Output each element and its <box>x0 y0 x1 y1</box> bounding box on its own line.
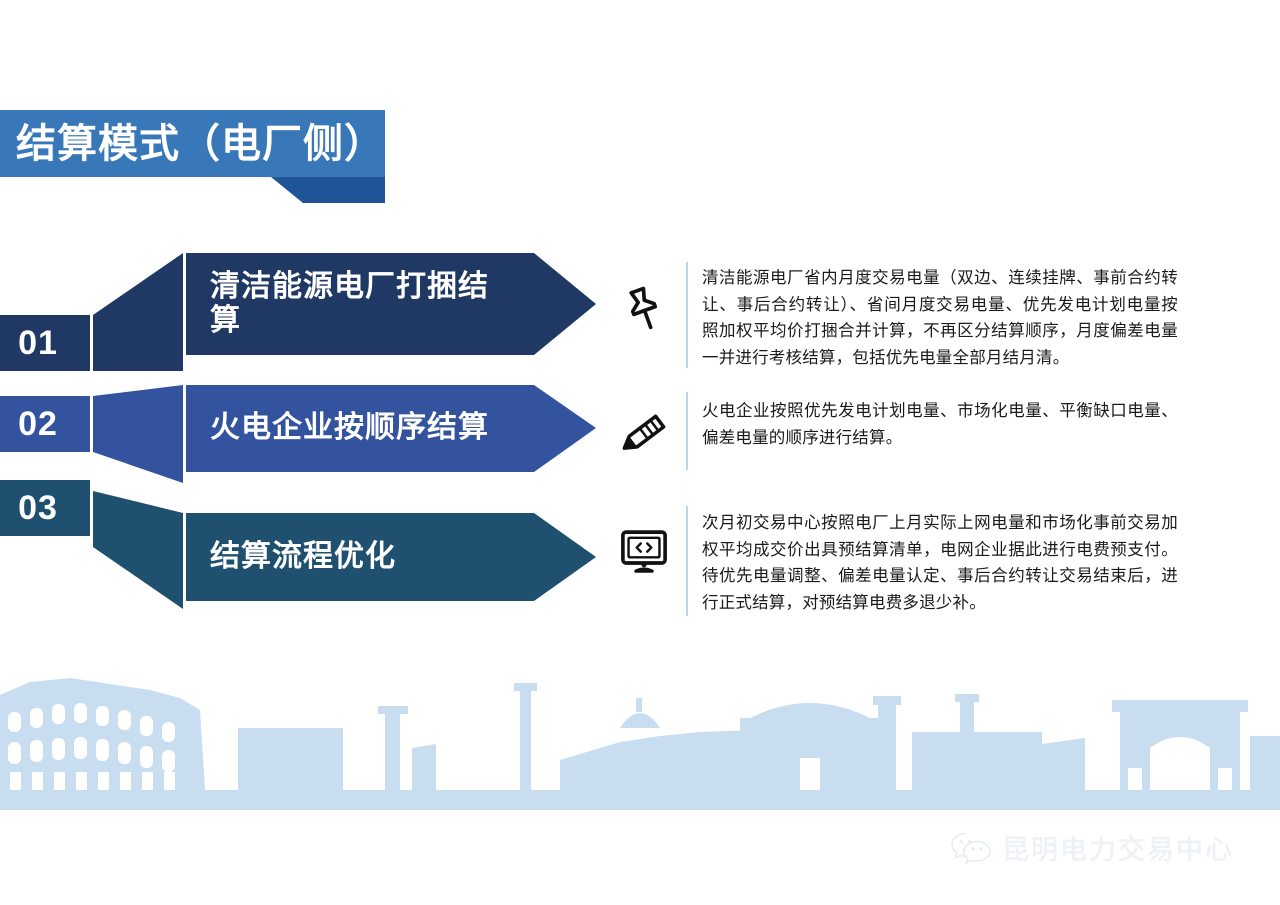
step-arrow-banner-3[interactable]: 结算流程优化 <box>186 513 596 601</box>
page-title: 结算模式（电厂侧） <box>0 124 385 164</box>
monitor-code-icon <box>607 513 681 587</box>
pencil-icon <box>607 395 681 469</box>
step-number-box-2: 02 <box>0 396 90 452</box>
step-number-label-2: 02 <box>18 407 58 441</box>
title-banner: 结算模式（电厂侧） <box>0 110 385 177</box>
slide-canvas: 结算模式（电厂侧） 01 清洁能源电厂打捆结算 清洁能源电厂省内月度交易电量（双… <box>0 0 1280 905</box>
step-connector-1 <box>93 253 183 371</box>
wechat-icon <box>950 831 992 865</box>
step-heading-3: 结算流程优化 <box>186 540 476 575</box>
step-heading-1: 清洁能源电厂打捆结算 <box>186 270 596 339</box>
step-number-label-3: 03 <box>18 491 58 525</box>
footer-label: 昆明电力交易中心 <box>1002 828 1234 867</box>
step-body-3: 次月初交易中心按照电厂上月实际上网电量和市场化事前交易加权平均成交价出具预结算清… <box>702 510 1178 617</box>
step-heading-2: 火电企业按顺序结算 <box>186 411 569 446</box>
step-arrow-banner-1[interactable]: 清洁能源电厂打捆结算 <box>186 253 596 355</box>
content-divider-3 <box>686 506 688 616</box>
step-connector-2 <box>93 385 183 483</box>
title-banner-fold <box>271 177 385 203</box>
step-body-1: 清洁能源电厂省内月度交易电量（双边、连续挂牌、事前合约转让、事后合约转让）、省间… <box>702 265 1178 372</box>
footer-credit: 昆明电力交易中心 <box>950 828 1234 867</box>
step-body-2: 火电企业按照优先发电计划电量、市场化电量、平衡缺口电量、偏差电量的顺序进行结算。 <box>702 398 1178 451</box>
city-skyline-silhouette <box>0 640 1280 810</box>
content-divider-1 <box>686 262 688 368</box>
pushpin-icon <box>607 272 681 346</box>
step-connector-3 <box>93 491 183 609</box>
content-divider-2 <box>686 392 688 470</box>
step-arrow-banner-2[interactable]: 火电企业按顺序结算 <box>186 385 596 472</box>
step-number-label-1: 01 <box>18 326 58 360</box>
step-number-box-3: 03 <box>0 480 90 536</box>
step-number-box-1: 01 <box>0 315 90 371</box>
